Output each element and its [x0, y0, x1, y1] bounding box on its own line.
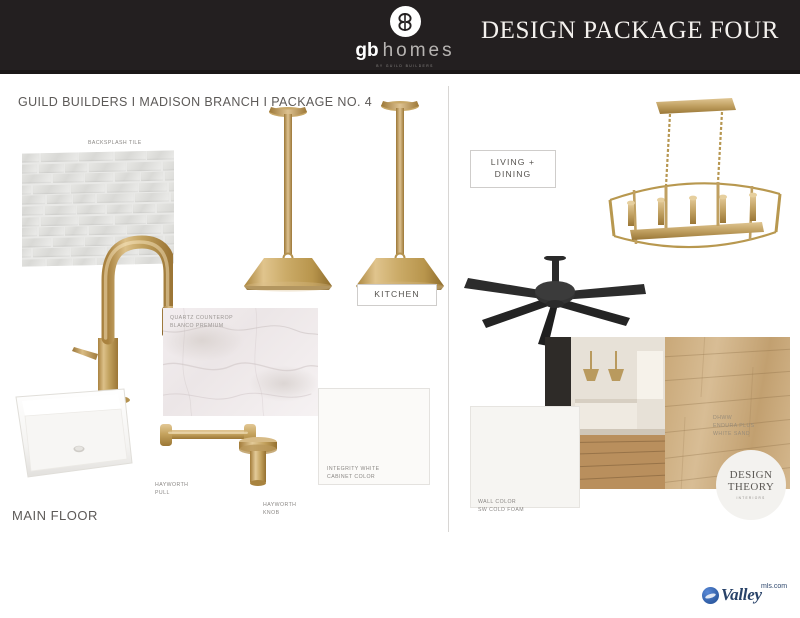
- gb-monogram-icon: [390, 6, 421, 37]
- wood-flooring-label: DHWW ENDURA PLUS WHITE SAND: [713, 414, 755, 438]
- design-board: gb homes BY GUILD BUILDERS DESIGN PACKAG…: [0, 0, 800, 618]
- zone-tag-living-line2: DINING: [495, 169, 532, 181]
- main-floor-label: MAIN FLOOR: [12, 508, 98, 523]
- cabinet-color-label: INTEGRITY WHITE CABINET COLOR: [327, 465, 379, 481]
- gb-homes-logo: gb homes BY GUILD BUILDERS: [330, 6, 480, 68]
- quartz-countertop-label: QUARTZ COUNTEROP BLANCO PREMIUM: [170, 314, 233, 330]
- watermark-suffix: mls.com: [761, 583, 787, 590]
- package-title: DESIGN PACKAGE FOUR: [480, 17, 780, 45]
- pendant-light-left-image: [228, 98, 348, 298]
- zone-tag-living-dining[interactable]: LIVING + DINING: [470, 150, 556, 188]
- kitchen-faucet-image: [58, 218, 173, 408]
- design-theory-line2: THEORY: [728, 482, 774, 493]
- wall-color-label: WALL COLOR SW COLD FOAM: [478, 498, 524, 514]
- zone-tag-kitchen[interactable]: KITCHEN: [357, 284, 437, 306]
- linear-chandelier-image: [600, 96, 790, 266]
- zone-tag-kitchen-label: KITCHEN: [374, 289, 419, 301]
- design-theory-line1: DESIGN: [730, 470, 773, 481]
- footer-area: [0, 570, 800, 618]
- pendant-light-right-image: [340, 98, 460, 298]
- valley-mls-watermark: Valley mls.com: [702, 582, 794, 608]
- wall-color-swatch: [470, 406, 580, 508]
- cabinet-pull-label: HAYWORTH PULL: [155, 481, 188, 497]
- design-theory-logo: DESIGN THEORY INTERIORS: [716, 450, 786, 520]
- logo-wordmark: gb homes: [355, 40, 454, 62]
- logo-word-homes: homes: [383, 40, 455, 62]
- cabinet-knob-image: [228, 432, 288, 500]
- header-bar: gb homes BY GUILD BUILDERS DESIGN PACKAG…: [0, 0, 800, 70]
- backsplash-tile-label: BACKSPLASH TILE: [88, 139, 142, 147]
- farmhouse-sink-image: [12, 385, 140, 480]
- zone-tag-living-line1: LIVING +: [491, 157, 535, 169]
- logo-tagline: BY GUILD BUILDERS: [376, 64, 433, 68]
- watermark-name: Valley: [721, 585, 762, 604]
- design-theory-line3: INTERIORS: [736, 496, 765, 500]
- logo-word-gb: gb: [355, 40, 378, 62]
- globe-icon: [702, 587, 719, 604]
- cabinet-knob-label: HAYWORTH KNOB: [263, 501, 296, 517]
